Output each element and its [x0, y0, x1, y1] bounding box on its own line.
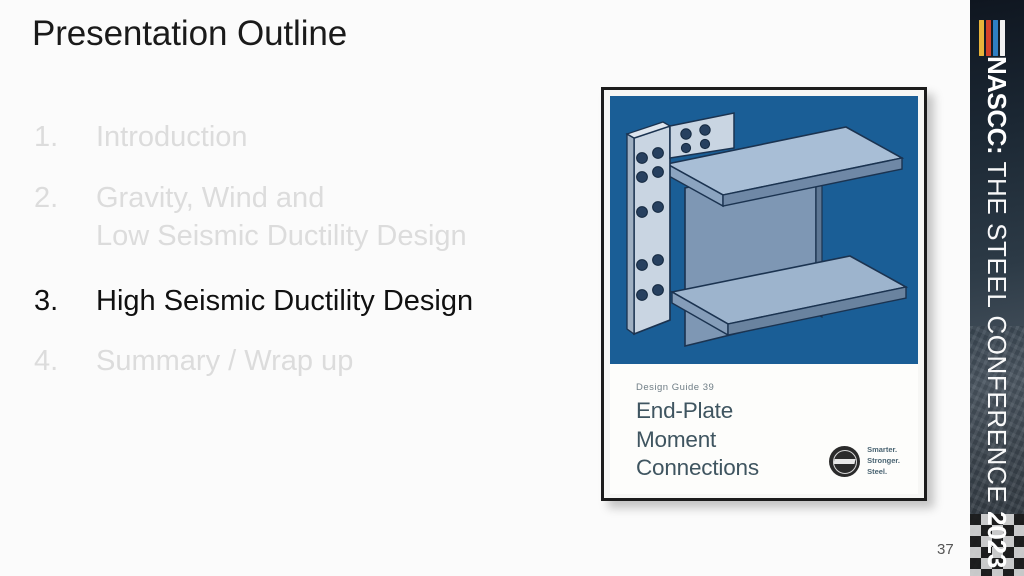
book-inner: Design Guide 39 End-Plate Moment Connect…: [610, 96, 918, 494]
design-guide-book-cover: Design Guide 39 End-Plate Moment Connect…: [601, 87, 927, 501]
design-guide-label: Design Guide 39: [636, 382, 918, 393]
nascc-subtitle: THE STEEL CONFERENCE: [982, 154, 1012, 511]
outline-item-1[interactable]: 1. Introduction: [34, 118, 594, 157]
page-title: Presentation Outline: [32, 14, 347, 54]
outline-item-4[interactable]: 4. Summary / Wrap up: [34, 342, 594, 381]
outline-list: 1. Introduction 2. Gravity, Wind and Low…: [34, 118, 594, 403]
slide: Presentation Outline 1. Introduction 2. …: [0, 0, 1024, 576]
nascc-stripe-logo-icon: [979, 20, 1005, 56]
end-plate-moment-connection-icon: [610, 96, 912, 364]
outline-item-2-label: Gravity, Wind and Low Seismic Ductility …: [96, 179, 467, 256]
outline-item-1-label: Introduction: [96, 118, 248, 157]
outline-item-2-number: 2.: [34, 179, 96, 218]
stripe-1: [979, 20, 984, 56]
stripe-3: [993, 20, 998, 56]
nascc-year: 2023: [982, 511, 1012, 568]
outline-item-2[interactable]: 2. Gravity, Wind and Low Seismic Ductili…: [34, 179, 594, 256]
stripe-4: [1000, 20, 1005, 56]
outline-item-3-label: High Seismic Ductility Design: [96, 282, 473, 321]
aisc-logo: Smarter. Stronger. Steel.: [829, 445, 900, 478]
outline-item-4-label: Summary / Wrap up: [96, 342, 353, 381]
aisc-seal-icon: [829, 446, 860, 477]
stripe-2: [986, 20, 991, 56]
book-frame: Design Guide 39 End-Plate Moment Connect…: [601, 87, 927, 501]
nascc-brand: NASCC:: [982, 56, 1012, 154]
outline-item-3[interactable]: 3. High Seismic Ductility Design: [34, 282, 594, 321]
book-cover-text-area: Design Guide 39 End-Plate Moment Connect…: [610, 364, 918, 494]
aisc-tagline: Smarter. Stronger. Steel.: [867, 445, 900, 478]
nascc-conference-rail: NASCC: THE STEEL CONFERENCE 2023: [970, 0, 1024, 576]
book-cover-illustration-area: [610, 96, 918, 364]
outline-item-1-number: 1.: [34, 118, 96, 157]
outline-item-4-number: 4.: [34, 342, 96, 381]
outline-item-3-number: 3.: [34, 282, 96, 321]
page-number: 37: [937, 541, 954, 558]
nascc-rail-text: NASCC: THE STEEL CONFERENCE 2023: [984, 56, 1010, 568]
